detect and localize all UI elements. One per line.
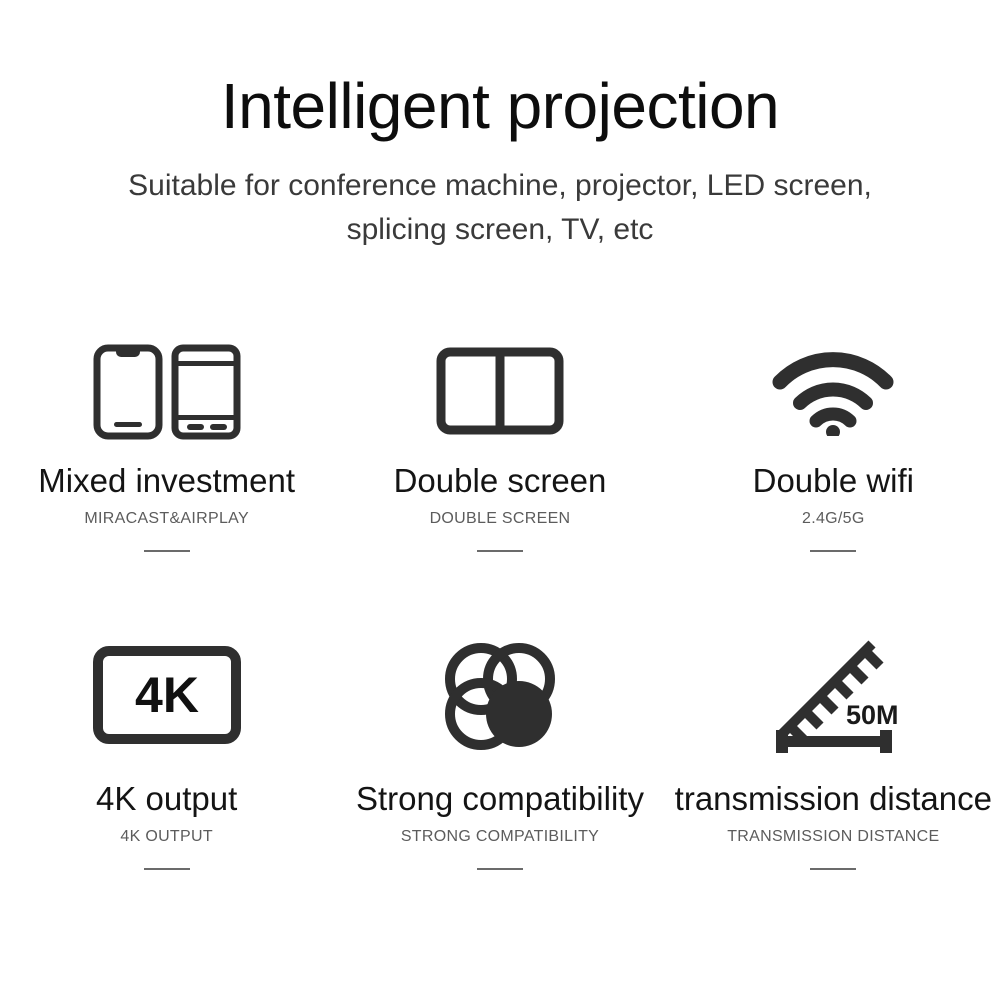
page-title: Intelligent projection bbox=[0, 74, 1000, 138]
feature-card-double-screen[interactable]: Double screen DOUBLE SCREEN bbox=[333, 332, 666, 632]
feature-card-double-wifi[interactable]: Double wifi 2.4G/5G bbox=[667, 332, 1000, 632]
feature-card-4k-output[interactable]: 4K 4K output 4K OUTPUT bbox=[0, 632, 333, 932]
card-divider bbox=[477, 550, 523, 552]
card-divider bbox=[810, 868, 856, 870]
feature-card-transmission-distance[interactable]: 50M transmission distance TRANSMISSION D… bbox=[667, 632, 1000, 932]
feature-label: Strong compatibility bbox=[356, 782, 644, 817]
page-subtitle: Suitable for conference machine, project… bbox=[0, 164, 1000, 251]
subtitle-line-2: splicing screen, TV, etc bbox=[0, 208, 1000, 252]
distance-icon-text: 50M bbox=[846, 700, 898, 730]
overlapping-circles-icon bbox=[441, 632, 559, 758]
card-divider bbox=[477, 868, 523, 870]
feature-caption: MIRACAST&AIRPLAY bbox=[84, 510, 249, 528]
feature-caption: 4K OUTPUT bbox=[120, 828, 213, 846]
feature-grid: Mixed investment MIRACAST&AIRPLAY Double… bbox=[0, 332, 1000, 932]
feature-card-mixed-investment[interactable]: Mixed investment MIRACAST&AIRPLAY bbox=[0, 332, 333, 632]
split-screen-icon bbox=[436, 332, 564, 450]
feature-label: 4K output bbox=[96, 782, 237, 817]
card-divider bbox=[810, 550, 856, 552]
two-phones-icon bbox=[92, 332, 242, 450]
feature-label: Double screen bbox=[394, 464, 607, 499]
measuring-ladder-icon: 50M bbox=[768, 632, 898, 758]
feature-label: Mixed investment bbox=[38, 464, 295, 499]
feature-card-strong-compatibility[interactable]: Strong compatibility STRONG COMPATIBILIT… bbox=[333, 632, 666, 932]
subtitle-line-1: Suitable for conference machine, project… bbox=[0, 164, 1000, 208]
feature-caption: STRONG COMPATIBILITY bbox=[401, 828, 599, 846]
card-divider bbox=[144, 550, 190, 552]
page-root: Intelligent projection Suitable for conf… bbox=[0, 0, 1000, 1000]
page-header: Intelligent projection Suitable for conf… bbox=[0, 0, 1000, 251]
card-divider bbox=[144, 868, 190, 870]
feature-caption: 2.4G/5G bbox=[802, 510, 865, 528]
feature-label: transmission distance bbox=[675, 782, 992, 817]
4k-screen-icon: 4K bbox=[92, 632, 242, 758]
4k-icon-text: 4K bbox=[135, 667, 199, 723]
feature-caption: DOUBLE SCREEN bbox=[430, 510, 571, 528]
wifi-icon bbox=[772, 332, 894, 450]
feature-caption: TRANSMISSION DISTANCE bbox=[727, 828, 939, 846]
feature-label: Double wifi bbox=[753, 464, 914, 499]
